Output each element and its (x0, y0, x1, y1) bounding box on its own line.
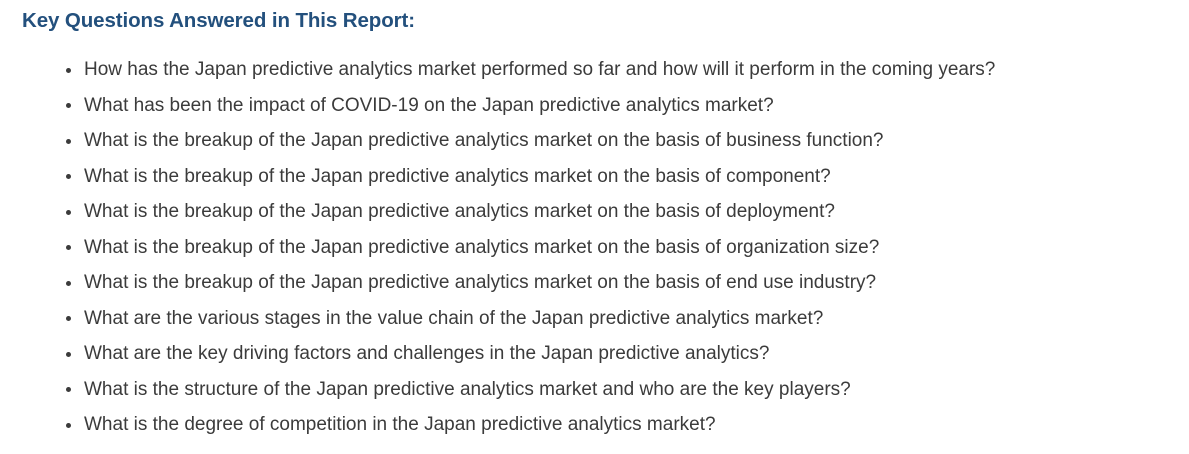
list-item: What are the various stages in the value… (0, 301, 995, 337)
list-item: What is the breakup of the Japan predict… (0, 123, 995, 159)
bullet-dot-icon (66, 387, 71, 392)
bullet-dot-icon (66, 174, 71, 179)
bullet-dot-icon (66, 68, 71, 73)
bullet-dot-icon (66, 139, 71, 144)
bullet-dot-icon (66, 245, 71, 250)
question-text: What are the various stages in the value… (84, 301, 823, 337)
bullet-dot-icon (66, 281, 71, 286)
list-item: What is the structure of the Japan predi… (0, 372, 995, 408)
question-text: What is the breakup of the Japan predict… (84, 159, 831, 195)
bullet-dot-icon (66, 103, 71, 108)
question-text: What is the breakup of the Japan predict… (84, 265, 876, 301)
bullet-dot-icon (66, 352, 71, 357)
list-item: What are the key driving factors and cha… (0, 336, 995, 372)
question-text: How has the Japan predictive analytics m… (84, 52, 995, 88)
question-text: What is the structure of the Japan predi… (84, 372, 851, 408)
question-text: What is the degree of competition in the… (84, 407, 716, 443)
question-text: What is the breakup of the Japan predict… (84, 230, 879, 266)
list-item: How has the Japan predictive analytics m… (0, 52, 995, 88)
list-item: What is the breakup of the Japan predict… (0, 230, 995, 266)
page-title: Key Questions Answered in This Report: (22, 9, 415, 33)
bullet-dot-icon (66, 210, 71, 215)
question-text: What are the key driving factors and cha… (84, 336, 769, 372)
list-item: What is the breakup of the Japan predict… (0, 159, 995, 195)
list-item: What is the breakup of the Japan predict… (0, 194, 995, 230)
list-item: What has been the impact of COVID-19 on … (0, 88, 995, 124)
list-item: What is the degree of competition in the… (0, 407, 995, 443)
key-questions-section: Key Questions Answered in This Report: H… (0, 0, 1189, 454)
list-item: What is the breakup of the Japan predict… (0, 265, 995, 301)
bullet-dot-icon (66, 423, 71, 428)
question-text: What is the breakup of the Japan predict… (84, 194, 835, 230)
question-text: What is the breakup of the Japan predict… (84, 123, 884, 159)
key-questions-list: How has the Japan predictive analytics m… (0, 52, 995, 443)
bullet-dot-icon (66, 316, 71, 321)
question-text: What has been the impact of COVID-19 on … (84, 88, 774, 124)
